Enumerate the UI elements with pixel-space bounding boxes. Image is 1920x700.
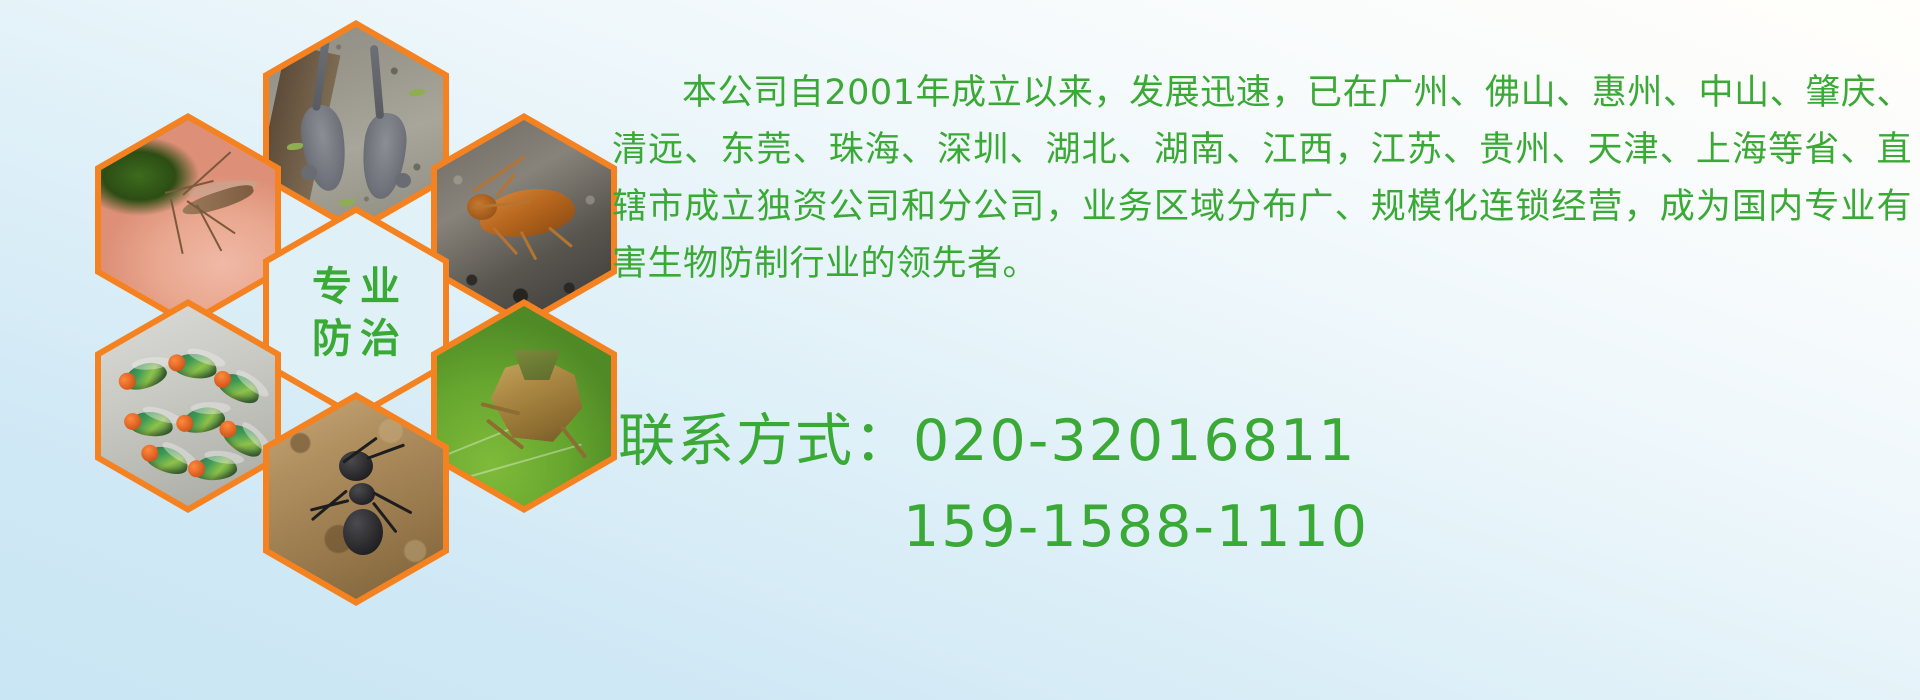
cockroach-photo-art xyxy=(437,120,611,320)
ant-abdomen xyxy=(343,509,383,555)
mosquito-photo-art xyxy=(101,120,275,320)
fly-photo xyxy=(101,306,275,506)
rat-ear-left xyxy=(301,165,317,180)
contact-line-secondary[interactable]: 159-1588-1110 xyxy=(618,484,1908,570)
fly-eye xyxy=(117,371,138,392)
mosquito-proboscis xyxy=(170,199,184,254)
contact-line-primary[interactable]: 联系方式：020-32016811 xyxy=(618,398,1908,484)
rat-ear-right xyxy=(395,173,411,188)
center-label-panel: 专业 防治 xyxy=(269,213,443,413)
rat-photo xyxy=(269,27,443,227)
center-label-line-1: 专业 xyxy=(304,265,408,309)
rat-photo-art xyxy=(269,27,443,227)
hex-cell-ant-photo[interactable] xyxy=(263,392,449,606)
fly-eye xyxy=(187,460,205,478)
mosquito-photo xyxy=(101,120,275,320)
honeycomb-image-cluster: 专业 防治 xyxy=(95,8,595,568)
fly-4 xyxy=(128,410,174,438)
company-description-paragraph: 本公司自2001年成立以来，发展迅速，已在广州、佛山、惠州、中山、肇庆、清远、东… xyxy=(612,65,1912,293)
fly-wing xyxy=(191,402,231,414)
fly-photo-art xyxy=(101,306,275,506)
fly-1 xyxy=(120,358,169,394)
center-label-text: 专业 防治 xyxy=(269,213,443,413)
hex-cell-fly-photo[interactable] xyxy=(95,299,281,513)
hex-cell-center-label: 专业 防治 xyxy=(263,206,449,420)
fly-7 xyxy=(142,441,192,479)
hex-cell-stinkbug-photo[interactable] xyxy=(431,299,617,513)
contact-block: 联系方式：020-32016811 159-1588-1110 xyxy=(618,398,1908,570)
ant-thorax xyxy=(349,483,375,505)
center-label-line-2: 防治 xyxy=(304,317,408,361)
fly-wing xyxy=(131,355,172,371)
fly-wing xyxy=(185,345,227,370)
fly-eye xyxy=(139,442,161,464)
company-description-block: 本公司自2001年成立以来，发展迅速，已在广州、佛山、惠州、中山、肇庆、清远、东… xyxy=(612,30,1912,328)
stinkbug-photo-art xyxy=(437,306,611,506)
stinkbug-leg-3 xyxy=(559,425,587,459)
cockroach-photo xyxy=(437,120,611,320)
fly-eye xyxy=(175,413,195,433)
hex-cell-mosquito-photo[interactable] xyxy=(95,113,281,327)
hex-cell-cockroach-photo[interactable] xyxy=(431,113,617,327)
stinkbug-photo xyxy=(437,306,611,506)
promo-banner: 专业 防治 xyxy=(0,0,1920,700)
fly-2 xyxy=(172,351,219,381)
hex-cell-rat-photo[interactable] xyxy=(263,20,449,234)
ant-photo xyxy=(269,399,443,599)
fly-eye xyxy=(167,353,186,372)
fly-wing xyxy=(233,366,272,400)
fly-8 xyxy=(192,454,238,481)
leaf-vein-2 xyxy=(447,443,582,484)
fly-eye xyxy=(123,412,142,431)
ant-photo-art xyxy=(269,399,443,599)
